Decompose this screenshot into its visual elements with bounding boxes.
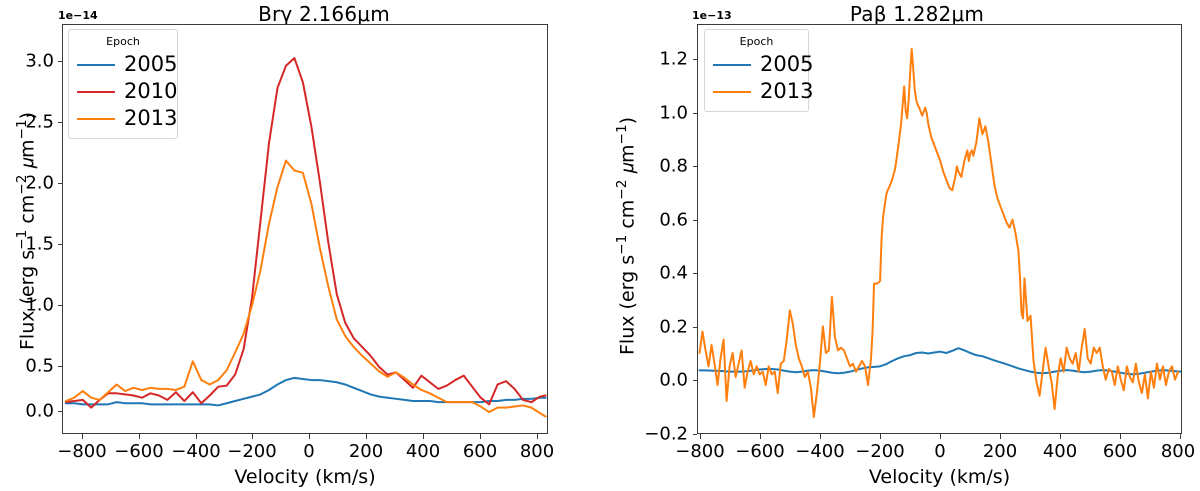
series-line-2013	[66, 161, 546, 417]
figure-root: Brγ 2.166μm 1e−14 Flux (erg s−1 cm−2 𝜇m−…	[0, 0, 1200, 491]
xtick-label-right-4: 0	[934, 441, 945, 462]
xtick-mark-right-7	[1120, 434, 1121, 439]
xtick-label-left-8: 800	[520, 441, 554, 462]
xtick-label-right-8: 800	[1161, 441, 1195, 462]
xtick-label-right-6: 400	[1043, 441, 1077, 462]
ytick-label-left-1: 0.5	[8, 356, 54, 377]
legend-swatch-2013	[77, 118, 115, 120]
legend-swatch-2013-right	[713, 91, 751, 93]
xtick-mark-right-6	[1060, 434, 1061, 439]
xtick-mark-left-6	[423, 434, 424, 439]
xtick-mark-right-2	[820, 434, 821, 439]
legend-item-2013-right[interactable]: 2013	[713, 78, 800, 105]
xtick-mark-left-0	[82, 434, 83, 439]
xtick-label-right-7: 600	[1103, 441, 1137, 462]
xtick-mark-right-0	[700, 434, 701, 439]
legend-title-left: Epoch	[77, 35, 169, 49]
xtick-label-left-0: −800	[57, 441, 106, 462]
legend-item-2013[interactable]: 2013	[77, 105, 169, 132]
ytick-label-left-4: 2.0	[8, 173, 54, 194]
ytick-label-left-5: 2.5	[8, 112, 54, 133]
ytick-label-right-4: 0.6	[626, 210, 688, 231]
xtick-mark-left-4	[309, 434, 310, 439]
xtick-label-left-4: 0	[303, 441, 314, 462]
legend-swatch-2005-right	[713, 64, 751, 66]
ytick-label-right-1: 0.0	[626, 370, 688, 391]
xtick-label-right-2: −400	[795, 441, 844, 462]
xtick-mark-left-8	[537, 434, 538, 439]
xtick-mark-left-2	[196, 434, 197, 439]
xtick-label-right-3: −200	[855, 441, 904, 462]
x-axis-label-right: Velocity (km/s)	[697, 466, 1182, 488]
legend-label-2005: 2005	[124, 54, 177, 75]
xtick-label-left-1: −600	[114, 441, 163, 462]
xtick-label-left-3: −200	[227, 441, 276, 462]
legend-brgamma[interactable]: Epoch 2005 2010 2013	[68, 29, 178, 139]
legend-swatch-2010	[77, 91, 115, 93]
xtick-label-left-5: 200	[349, 441, 383, 462]
legend-item-2010[interactable]: 2010	[77, 78, 169, 105]
legend-item-2005[interactable]: 2005	[77, 51, 169, 78]
xtick-mark-left-1	[139, 434, 140, 439]
xtick-mark-right-4	[940, 434, 941, 439]
legend-label-2005-right: 2005	[760, 54, 813, 75]
ytick-mark-right-0	[693, 434, 698, 435]
xtick-label-left-7: 600	[463, 441, 497, 462]
xtick-label-right-0: −800	[675, 441, 724, 462]
ytick-label-right-3: 0.4	[626, 263, 688, 284]
legend-label-2013-right: 2013	[760, 81, 813, 102]
ytick-label-left-2: 1.0	[8, 295, 54, 316]
panel-pabeta: Paβ 1.282μm 1e−13 Flux (erg s−1 cm−2 𝜇m−…	[600, 0, 1200, 491]
xtick-mark-right-5	[1000, 434, 1001, 439]
y-offset-text-right: 1e−13	[692, 9, 732, 22]
xtick-mark-left-3	[252, 434, 253, 439]
xtick-label-left-2: −400	[171, 441, 220, 462]
panel-title-pabeta: Paβ 1.282μm	[600, 2, 1200, 26]
legend-title-right: Epoch	[713, 35, 800, 49]
xtick-mark-right-3	[880, 434, 881, 439]
ytick-label-left-6: 3.0	[8, 51, 54, 72]
y-offset-text-left: 1e−14	[58, 9, 98, 22]
ytick-label-right-2: 0.2	[626, 317, 688, 338]
xtick-mark-left-5	[366, 434, 367, 439]
series-line-2005	[66, 378, 546, 406]
ytick-label-right-6: 1.0	[626, 103, 688, 124]
xtick-mark-right-1	[760, 434, 761, 439]
xtick-label-right-5: 200	[983, 441, 1017, 462]
ytick-label-right-7: 1.2	[626, 49, 688, 70]
xtick-mark-left-7	[480, 434, 481, 439]
xtick-mark-right-8	[1180, 434, 1181, 439]
legend-swatch-2005	[77, 64, 115, 66]
xtick-label-right-1: −600	[735, 441, 784, 462]
legend-pabeta[interactable]: Epoch 2005 2013	[704, 29, 809, 112]
ytick-label-left-3: 1.5	[8, 234, 54, 255]
panel-brgamma: Brγ 2.166μm 1e−14 Flux (erg s−1 cm−2 𝜇m−…	[0, 0, 600, 491]
x-axis-label-left: Velocity (km/s)	[62, 466, 548, 488]
ytick-label-right-5: 0.8	[626, 156, 688, 177]
legend-label-2010: 2010	[124, 81, 177, 102]
xtick-label-left-6: 400	[406, 441, 440, 462]
legend-item-2005-right[interactable]: 2005	[713, 51, 800, 78]
ytick-label-left-0: 0.0	[8, 401, 54, 422]
legend-label-2013: 2013	[124, 108, 177, 129]
